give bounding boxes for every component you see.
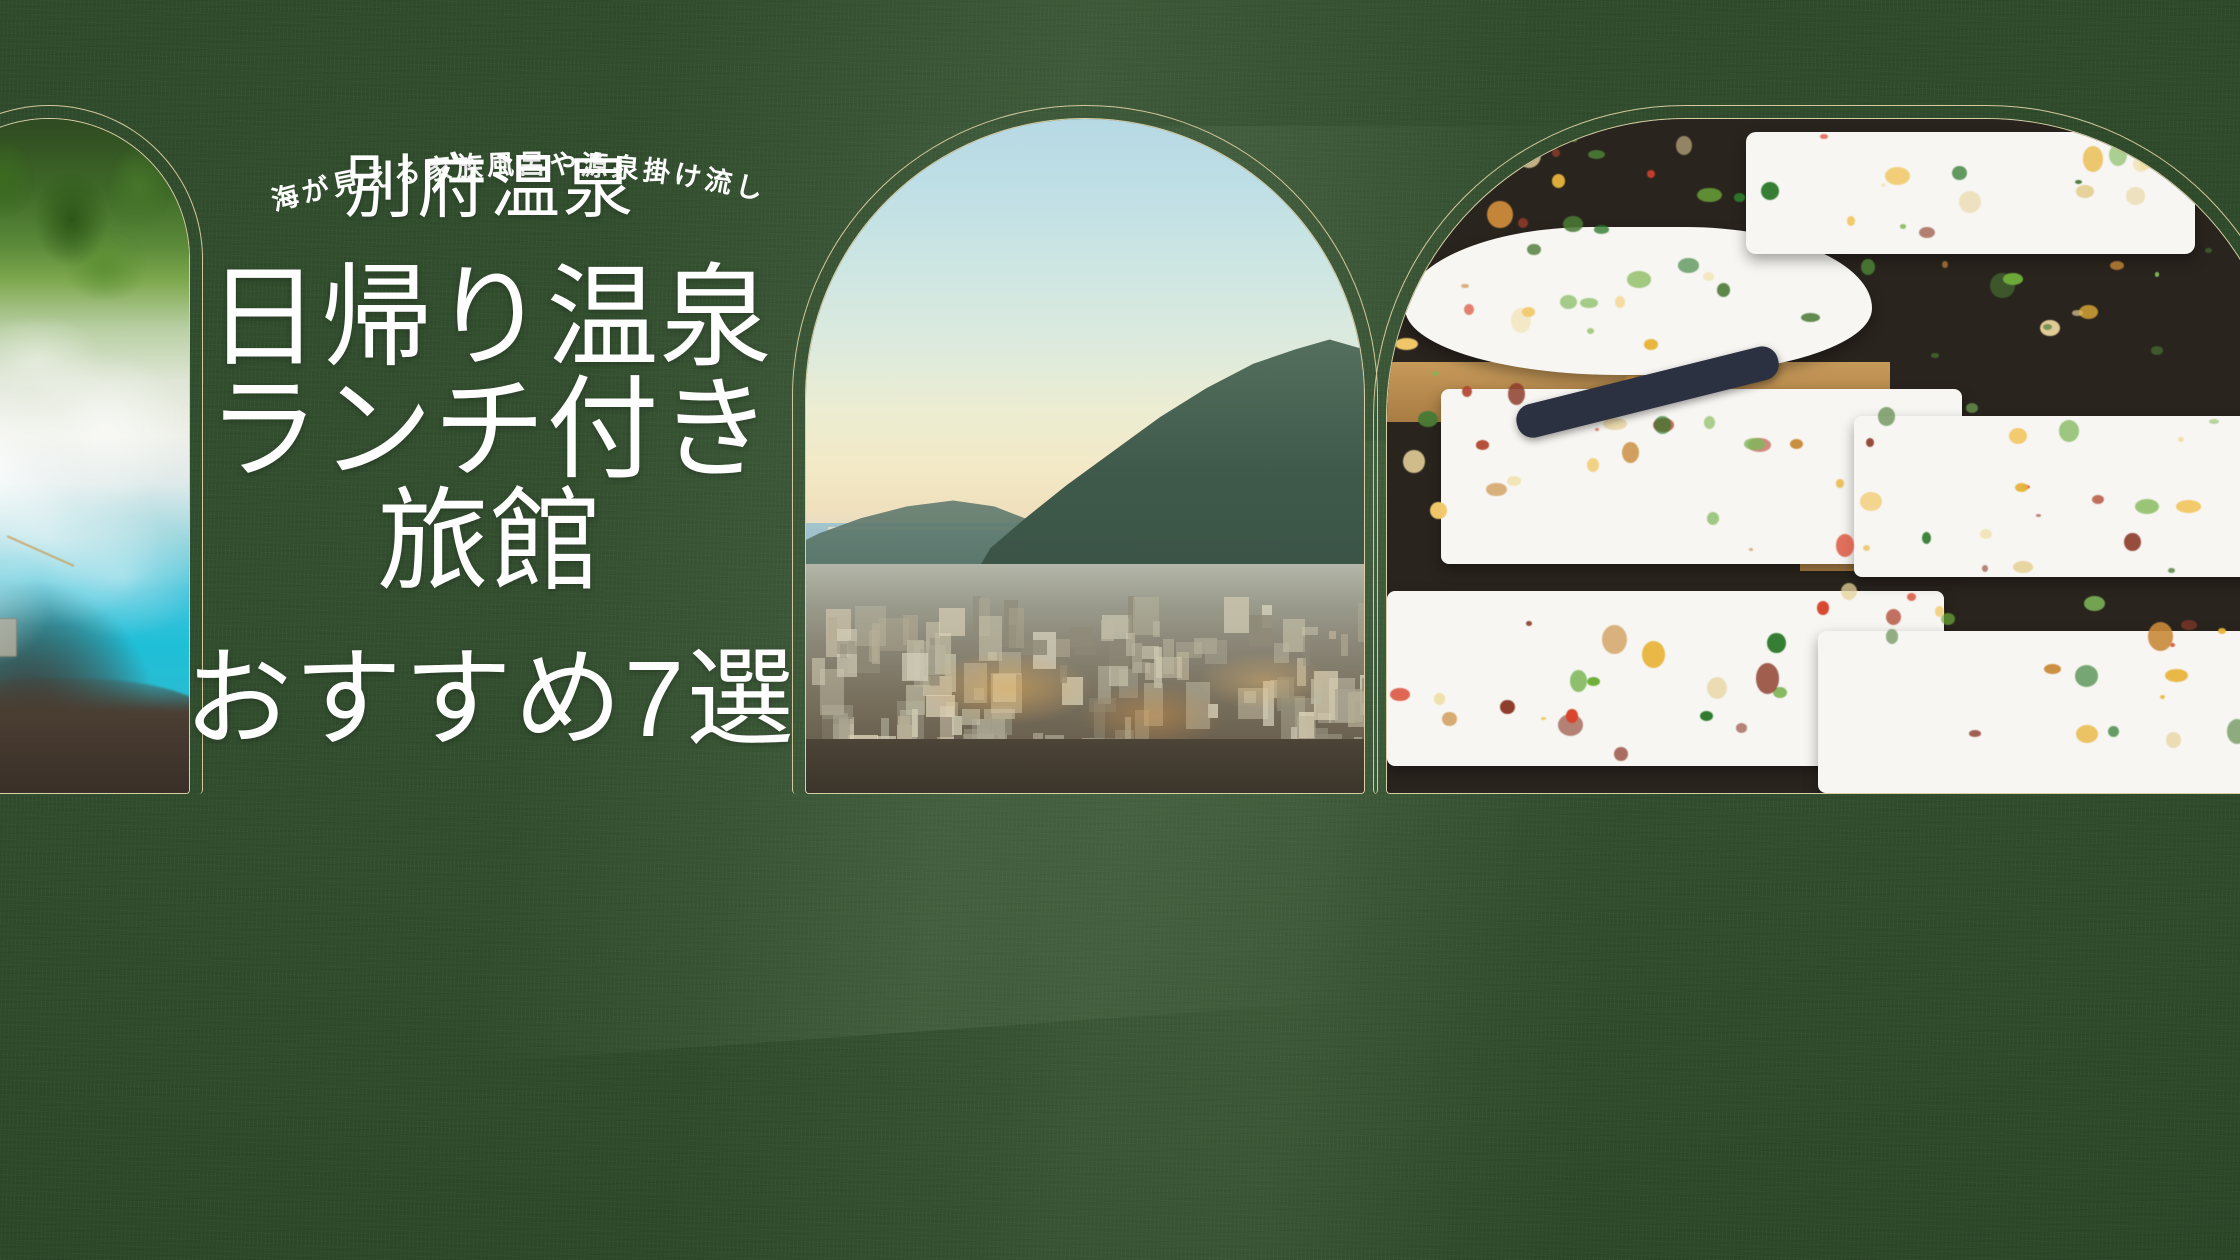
- food-garnish: [1744, 438, 1765, 450]
- hot-spring-basket: [0, 618, 17, 657]
- food-garnish: [1462, 386, 1472, 397]
- food-garnish: [1476, 440, 1489, 449]
- food-garnish: [1707, 677, 1727, 699]
- arch-frame-right: [1386, 118, 2240, 794]
- food-garnish: [1566, 709, 1577, 723]
- poster-canvas: 海が見える家族風呂や源泉掛け流し 別府温泉 日帰り温泉 ランチ付き 旅館 おすす…: [0, 0, 2240, 1260]
- food-garnish: [1820, 134, 1829, 139]
- food-garnish: [1980, 529, 1992, 539]
- spacer: [160, 598, 820, 642]
- food-garnish: [1468, 149, 1488, 161]
- food-garnish: [2151, 346, 2163, 355]
- food-garnish: [2124, 533, 2141, 551]
- headline: 日帰り温泉 ランチ付き 旅館: [160, 262, 820, 598]
- food-garnish: [1700, 711, 1713, 721]
- food-garnish: [1878, 407, 1895, 425]
- food-garnish: [2003, 273, 2023, 285]
- cuisine-photo: [1386, 118, 2240, 794]
- food-garnish: [1966, 403, 1978, 413]
- food-garnish: [1614, 747, 1628, 761]
- food-garnish: [1517, 142, 1541, 168]
- food-garnish: [1602, 625, 1626, 654]
- food-garnish: [1588, 150, 1605, 159]
- food-garnish: [1452, 201, 1468, 213]
- food-garnish: [1935, 606, 1945, 617]
- food-garnish: [2009, 428, 2027, 444]
- food-garnish: [1403, 450, 1425, 473]
- food-garnish: [1885, 167, 1910, 185]
- food-garnish: [1552, 149, 1560, 157]
- food-garnish: [1518, 218, 1528, 229]
- food-garnish: [1863, 545, 1870, 551]
- food-garnish: [1627, 271, 1651, 287]
- food-garnish: [1571, 137, 1577, 141]
- food-garnish: [2084, 596, 2104, 611]
- food-garnish: [1486, 483, 1506, 497]
- food-garnish: [2227, 719, 2240, 744]
- food-garnish: [1761, 182, 1779, 200]
- food-garnish: [2092, 495, 2104, 505]
- food-garnish: [1697, 188, 1722, 203]
- food-garnish: [1942, 261, 1948, 268]
- food-garnish: [1642, 641, 1665, 668]
- food-garnish: [1886, 609, 1901, 626]
- food-garnish: [1595, 428, 1599, 431]
- food-garnish: [1570, 670, 1588, 692]
- headline-line-1: 日帰り温泉: [160, 262, 820, 374]
- food-garnish: [1461, 284, 1469, 288]
- food-garnish: [1390, 688, 1410, 702]
- food-garnish: [2079, 305, 2098, 319]
- food-garnish: [1487, 201, 1513, 229]
- food-garnish: [2205, 248, 2212, 254]
- food-garnish: [2181, 620, 2197, 630]
- food-garnish: [2176, 500, 2201, 513]
- food-garnish: [1969, 730, 1981, 737]
- food-garnish: [1527, 244, 1540, 255]
- food-garnish: [2059, 420, 2079, 441]
- food-garnish: [1522, 307, 1536, 317]
- food-garnish: [1941, 613, 1955, 625]
- food-garnish: [1552, 174, 1565, 188]
- food-garnish: [1560, 295, 1577, 309]
- food-garnish: [2013, 561, 2033, 573]
- food-garnish: [2076, 725, 2099, 743]
- food-garnish: [2148, 622, 2173, 651]
- food-garnish: [2155, 272, 2160, 277]
- food-garnish: [1767, 633, 1785, 653]
- food-garnish: [1587, 677, 1600, 686]
- food-garnish: [1756, 663, 1779, 693]
- food-garnish: [1922, 532, 1931, 544]
- food-garnish: [1432, 371, 1439, 375]
- food-garnish: [1847, 216, 1855, 226]
- food-garnish: [1508, 383, 1525, 405]
- food-garnish: [1836, 534, 1854, 557]
- headline-line-3: 旅館: [160, 486, 820, 598]
- food-garnish: [2135, 499, 2159, 515]
- food-garnish: [1654, 416, 1671, 434]
- food-garnish: [2126, 187, 2146, 204]
- food-garnish: [1563, 216, 1583, 232]
- food-garnish: [1395, 338, 1418, 350]
- food-garnish: [2075, 665, 2099, 687]
- food-garnish: [2109, 144, 2127, 166]
- food-garnish: [1931, 353, 1938, 358]
- food-garnish: [1817, 601, 1829, 614]
- poster-copy: 別府温泉 日帰り温泉 ランチ付き 旅館 おすすめ7選: [160, 150, 820, 755]
- food-garnish: [1676, 136, 1692, 155]
- food-garnish: [2076, 185, 2095, 198]
- food-plate: [1818, 631, 2240, 793]
- food-garnish: [2108, 726, 2119, 737]
- food-garnish: [1644, 339, 1658, 350]
- tagline: おすすめ7選: [160, 642, 820, 755]
- food-garnish: [2166, 732, 2181, 749]
- food-garnish: [1790, 439, 1803, 449]
- cuisine-scene: [1387, 119, 2240, 793]
- food-garnish: [1594, 225, 1610, 234]
- food-garnish: [1421, 180, 1432, 186]
- food-garnish: [2083, 146, 2103, 171]
- food-garnish: [1434, 693, 1445, 704]
- food-garnish: [1907, 593, 1916, 601]
- food-garnish: [2044, 664, 2060, 674]
- food-garnish: [1418, 411, 1438, 427]
- food-garnish: [1982, 565, 1988, 572]
- cityscape-foreground-road: [806, 739, 1364, 793]
- food-garnish: [1678, 258, 1699, 272]
- food-garnish: [2036, 514, 2041, 516]
- food-garnish: [2178, 437, 2184, 442]
- food-garnish: [1900, 224, 1907, 229]
- food-garnish: [1861, 259, 1874, 275]
- food-garnish: [1580, 298, 1598, 308]
- food-garnish: [2140, 159, 2150, 170]
- food-garnish: [1734, 193, 1745, 201]
- food-garnish: [1622, 442, 1639, 463]
- headline-line-2: ランチ付き: [160, 374, 820, 486]
- eyebrow-label: 別府温泉: [160, 150, 820, 226]
- food-garnish: [2228, 227, 2236, 237]
- food-garnish: [1881, 183, 1886, 187]
- food-garnish: [2110, 261, 2124, 270]
- food-garnish: [1647, 170, 1656, 179]
